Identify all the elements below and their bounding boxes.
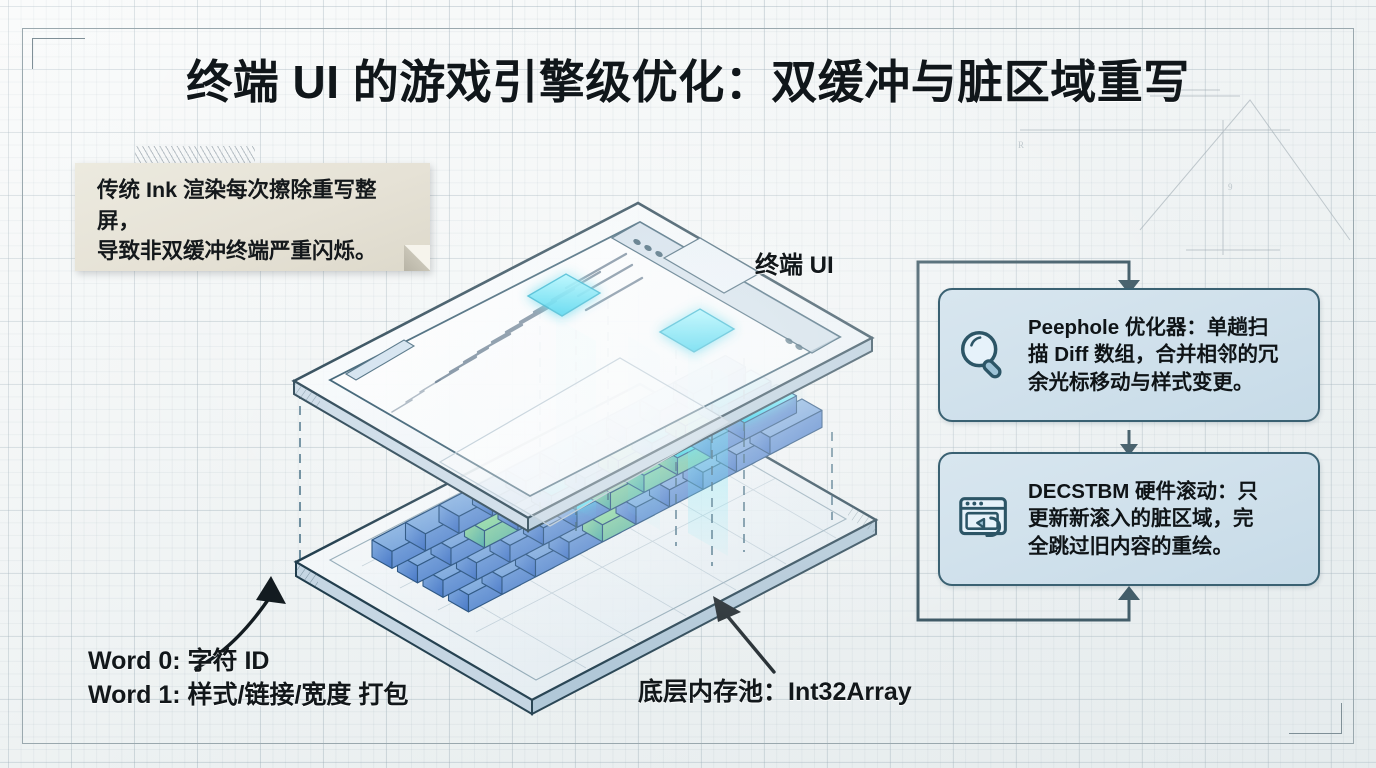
label-terminal-ui: 终端 UI: [755, 245, 834, 280]
page-title: 终端 UI 的游戏引擎级优化：双缓冲与脏区域重写: [0, 46, 1376, 112]
callout-decstbm-scroll[interactable]: DECSTBM 硬件滚动：只 更新新滚入的脏区域，完 全跳过旧内容的重绘。: [938, 452, 1320, 586]
flicker-problem-note: 传统 Ink 渲染每次擦除重写整屏， 导致非双缓冲终端严重闪烁。: [75, 163, 430, 271]
callout-peephole-text: Peephole 优化器：单趟扫 描 Diff 数组，合并相邻的冗 余光标移动与…: [1028, 314, 1279, 396]
magnifier-icon: [950, 320, 1020, 390]
window-scroll-icon: [950, 484, 1020, 554]
diagram-canvas: R9: [0, 0, 1376, 768]
corner-mark-bottom-right: [1289, 703, 1342, 734]
note-hatch-decoration: [135, 146, 255, 164]
note-fold-corner: [404, 245, 430, 271]
callout-decstbm-text: DECSTBM 硬件滚动：只 更新新滚入的脏区域，完 全跳过旧内容的重绘。: [1028, 478, 1258, 560]
label-memory-pool: 底层内存池：Int32Array: [638, 672, 912, 708]
note-text: 传统 Ink 渲染每次擦除重写整屏， 导致非双缓冲终端严重闪烁。: [97, 175, 412, 267]
callout-peephole-optimizer[interactable]: Peephole 优化器：单趟扫 描 Diff 数组，合并相邻的冗 余光标移动与…: [938, 288, 1320, 422]
label-word-layout: Word 0: 字符 ID Word 1: 样式/链接/宽度 打包: [88, 645, 408, 712]
